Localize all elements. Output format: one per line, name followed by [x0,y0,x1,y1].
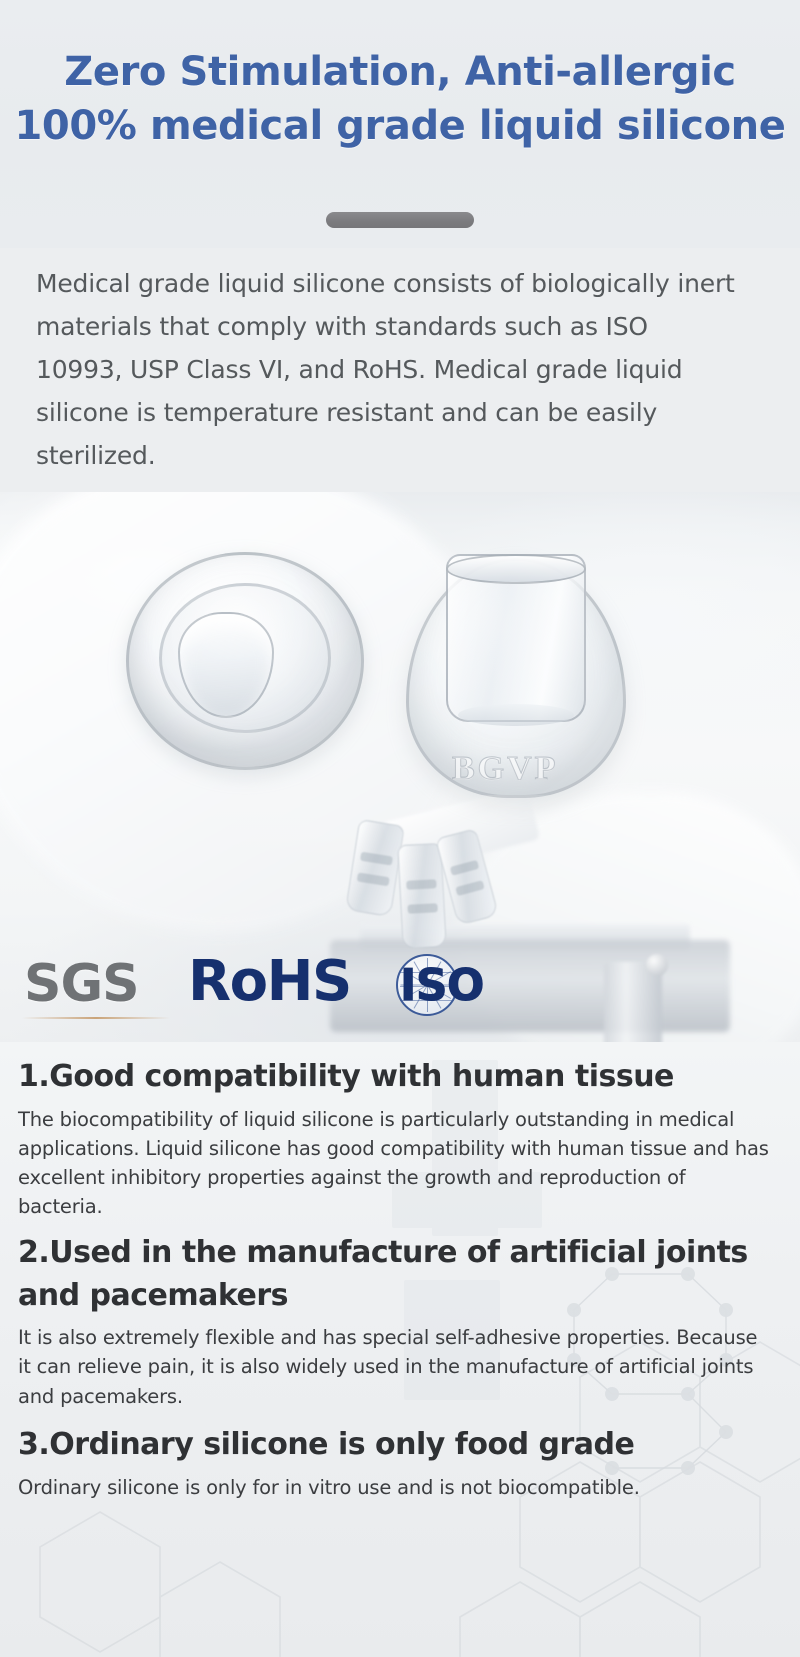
brand-watermark: BGVP [452,750,558,788]
title-line-2: 100% medical grade liquid silicone [0,100,800,154]
certification-logos: SGS RoHS ISO [0,956,800,1018]
title-line-1: Zero Stimulation, Anti-allergic [0,46,800,100]
feature-item: 1.Good compatibility with human tissue T… [0,1056,790,1222]
microscope-objective-icon [397,843,446,949]
product-info-page: Zero Stimulation, Anti-allergic 100% med… [0,0,800,1657]
feature-item: 3.Ordinary silicone is only food grade O… [0,1424,790,1502]
feature-body: Ordinary silicone is only for in vitro u… [0,1473,790,1502]
feature-body: It is also extremely flexible and has sp… [0,1323,790,1411]
rohs-logo: RoHS [188,954,351,1010]
page-title: Zero Stimulation, Anti-allergic 100% med… [0,46,800,153]
intro-paragraph: Medical grade liquid silicone consists o… [36,262,736,477]
features-section: 1.Good compatibility with human tissue T… [0,1042,800,1657]
feature-heading: 2.Used in the manufacture of artificial … [0,1232,790,1317]
iso-logo: ISO [400,964,484,1008]
header-section: Zero Stimulation, Anti-allergic 100% med… [0,0,800,248]
feature-heading: 1.Good compatibility with human tissue [0,1056,790,1099]
feature-item: 2.Used in the manufacture of artificial … [0,1232,790,1411]
sgs-logo: SGS [24,958,139,1010]
feature-heading: 3.Ordinary silicone is only food grade [0,1424,790,1467]
silicone-eartip-right-bore [446,554,586,722]
divider-pill [326,212,474,228]
feature-body: The biocompatibility of liquid silicone … [0,1105,790,1222]
